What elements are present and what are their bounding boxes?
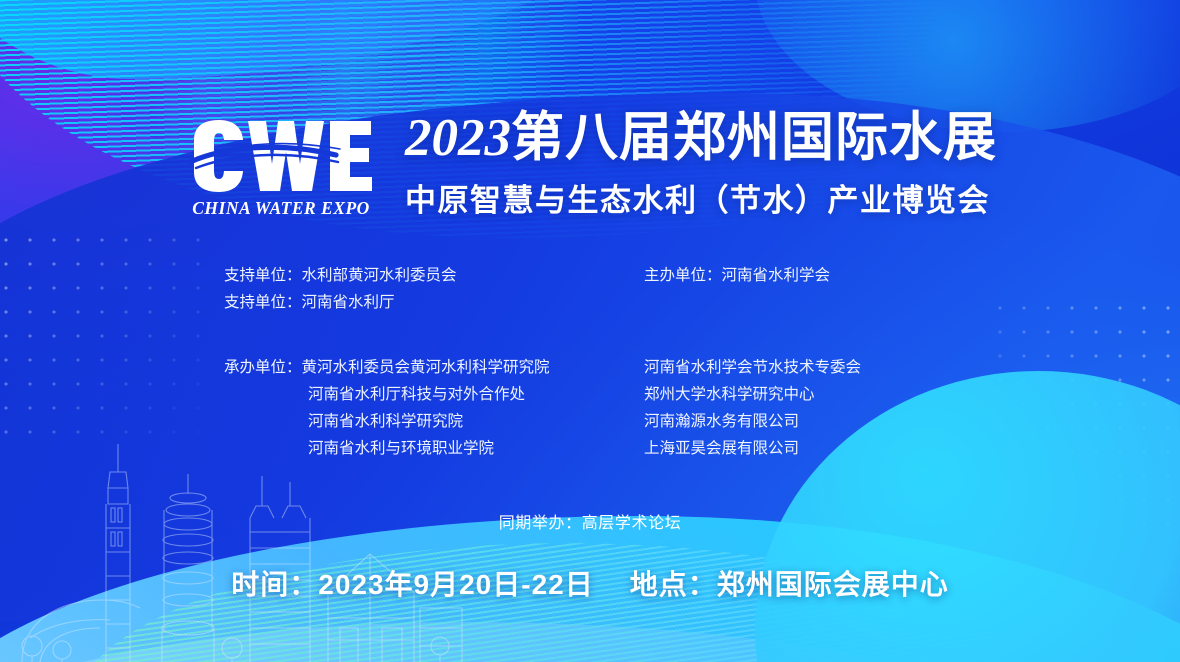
coorganizer-right-2: 河南瀚源水务有限公司	[644, 408, 984, 435]
coorganizer-left-3: 河南省水利与环境职业学院	[224, 435, 644, 462]
poster-title: 2023第八届郑州国际水展	[405, 110, 997, 166]
cwe-logo: CHINA WATER EXPO	[183, 108, 379, 219]
coorganizer-left-column: 承办单位： 黄河水利委员会黄河水利科学研究院 河南省水利厅科技与对外合作处 河南…	[224, 354, 644, 462]
coorganizer-right-0: 河南省水利学会节水技术专委会	[644, 354, 984, 381]
city-skyline-illustration	[10, 432, 480, 662]
coorganizer-first-row: 承办单位： 黄河水利委员会黄河水利科学研究院	[224, 354, 644, 381]
title-group: 2023第八届郑州国际水展 中原智慧与生态水利（节水）产业博览会	[405, 108, 997, 220]
pale-blue-bottom-wave	[0, 622, 1180, 662]
expo-poster: CHINA WATER EXPO 2023第八届郑州国际水展 中原智慧与生态水利…	[0, 0, 1180, 662]
poster-subtitle: 中原智慧与生态水利（节水）产业博览会	[405, 175, 997, 220]
organizer-section: 支持单位：水利部黄河水利委员会 支持单位：河南省水利厅 主办单位：河南省水利学会…	[224, 262, 984, 462]
support-unit-2: 支持单位：河南省水利厅	[224, 289, 644, 316]
coorganizer-right-column: 河南省水利学会节水技术专委会 郑州大学水科学研究中心 河南瀚源水务有限公司 上海…	[644, 354, 984, 462]
coorganizer-left-1: 河南省水利厅科技与对外合作处	[224, 381, 644, 408]
coorganizer-grid: 承办单位： 黄河水利委员会黄河水利科学研究院 河南省水利厅科技与对外合作处 河南…	[224, 354, 984, 462]
cwe-logo-tagline: CHINA WATER EXPO	[192, 198, 370, 219]
coorganizer-label: 承办单位：	[224, 354, 302, 381]
title-main-rest: 第八届郑州国际水展	[511, 108, 997, 167]
event-date: 时间：2023年9月20日-22日	[231, 569, 593, 600]
dot-grid-left	[0, 228, 214, 438]
support-unit-1: 支持单位：水利部黄河水利委员会	[224, 262, 644, 289]
host-column: 主办单位：河南省水利学会	[644, 262, 984, 316]
coorganizer-left-2: 河南省水利科学研究院	[224, 408, 644, 435]
title-year: 2023	[405, 109, 511, 167]
support-host-grid: 支持单位：水利部黄河水利委员会 支持单位：河南省水利厅 主办单位：河南省水利学会	[224, 262, 984, 316]
coorganizer-right-1: 郑州大学水科学研究中心	[644, 381, 984, 408]
poster-header: CHINA WATER EXPO 2023第八届郑州国际水展 中原智慧与生态水利…	[0, 108, 1180, 220]
dot-grid-right	[988, 296, 1180, 526]
cyan-top-wave	[0, 0, 708, 79]
host-unit: 主办单位：河南省水利学会	[644, 262, 984, 289]
cwe-wordmark-icon	[186, 118, 376, 194]
support-column: 支持单位：水利部黄河水利委员会 支持单位：河南省水利厅	[224, 262, 644, 316]
coorganizer-left-0: 黄河水利委员会黄河水利科学研究院	[302, 354, 550, 381]
concurrent-forum-line: 同期举办：高层学术论坛	[0, 509, 1180, 533]
coorganizer-right-3: 上海亚昊会展有限公司	[644, 435, 984, 462]
event-footer: 时间：2023年9月20日-22日地点：郑州国际会展中心	[0, 563, 1180, 603]
event-venue: 地点：郑州国际会展中心	[630, 569, 949, 600]
